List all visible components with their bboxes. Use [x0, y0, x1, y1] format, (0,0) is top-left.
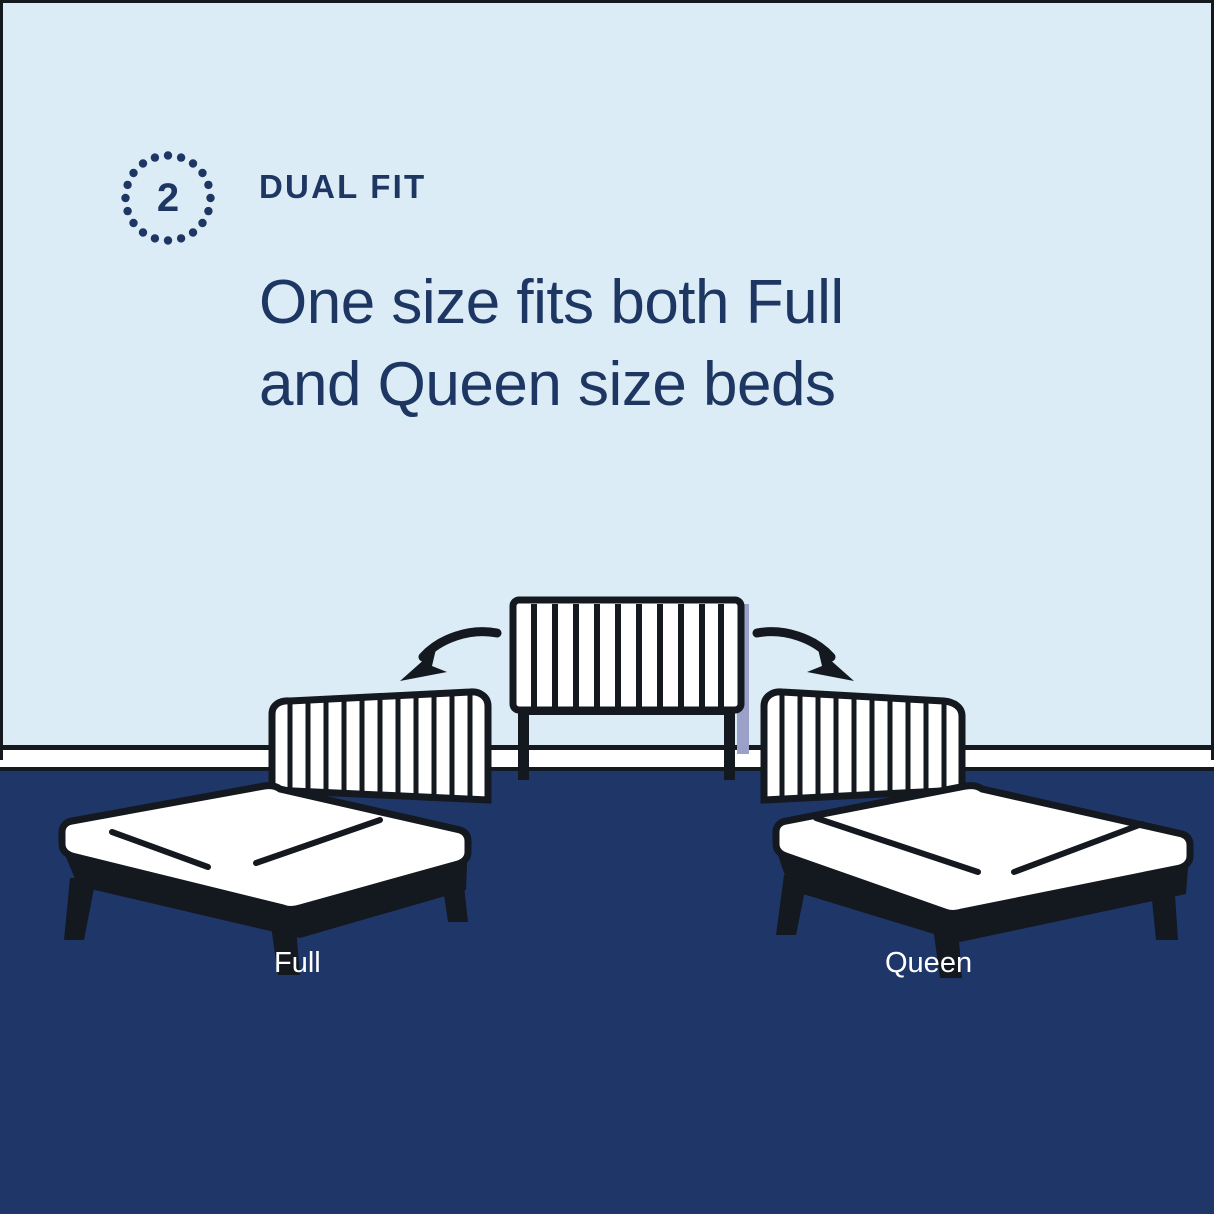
bed-illustration: [0, 0, 1214, 1214]
canvas-border-top: [0, 0, 1214, 3]
bed-queen: [764, 692, 1190, 978]
arrow-to-full-icon: [400, 632, 497, 681]
center-headboard: [513, 600, 749, 780]
bed-full-headboard: [272, 692, 488, 800]
canvas-border-left: [0, 0, 3, 760]
infographic-canvas: 2 DUAL FIT One size fits both Full and Q…: [0, 0, 1214, 1214]
arrow-to-queen-icon: [757, 632, 854, 681]
headboard-panel: [513, 600, 741, 710]
headboard-rail: [528, 707, 726, 715]
bed-full: [58, 692, 488, 975]
bed-label-full: Full: [274, 947, 321, 980]
bed-queen-headboard: [764, 692, 962, 800]
bed-label-queen: Queen: [885, 947, 972, 980]
